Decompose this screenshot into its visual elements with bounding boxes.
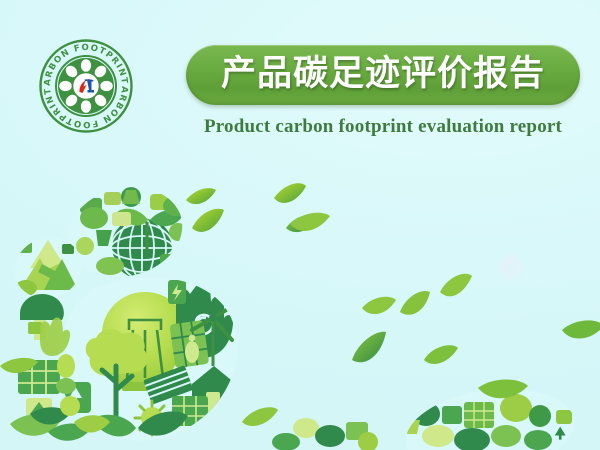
- leaf-icon: [562, 320, 600, 338]
- leaf-icon: [186, 188, 216, 204]
- leaf-icon: [290, 213, 330, 231]
- leaf-icon: [352, 332, 386, 362]
- cover-header: CARBON FOOTPRINT · CARBON FOOTPRINT ·: [0, 0, 600, 165]
- report-subtitle: Product carbon footprint evaluation repo…: [186, 116, 580, 138]
- carbon-footprint-seal-logo: CARBON FOOTPRINT · CARBON FOOTPRINT ·: [38, 38, 134, 134]
- eco-footprint-artwork: [0, 170, 600, 450]
- footprint-heel-cluster: [400, 390, 590, 450]
- mid-cluster: [272, 418, 378, 450]
- leaf-icon: [274, 183, 306, 203]
- report-title-text: 产品碳足迹评价报告: [221, 57, 545, 94]
- report-cover-page: CARBON FOOTPRINT · CARBON FOOTPRINT ·: [0, 0, 600, 450]
- footprint-toe-cluster: [60, 180, 200, 290]
- leaf-icon: [362, 297, 396, 314]
- solar-panel-icon: [464, 402, 494, 428]
- leaf-icon: [400, 291, 430, 315]
- battery-icon: [168, 280, 186, 304]
- leaf-icon: [440, 274, 472, 297]
- leaf-icon: [192, 209, 224, 232]
- leaf-icon: [424, 345, 458, 364]
- leaf-icon: [242, 407, 278, 426]
- report-title-pill: 产品碳足迹评价报告: [186, 45, 580, 105]
